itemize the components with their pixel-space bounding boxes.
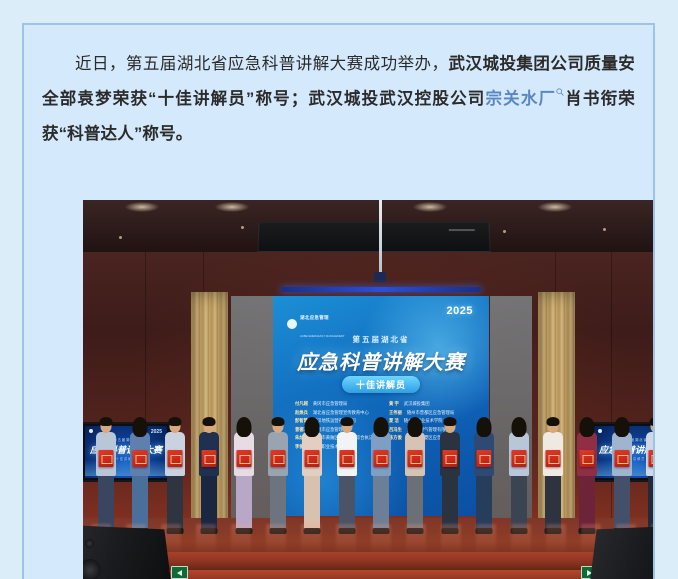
- hanging-mic-head: [374, 272, 386, 282]
- red-certificate: [133, 450, 148, 467]
- stage-light-strip: [281, 287, 481, 292]
- red-certificate: [649, 450, 656, 467]
- hanging-mic-pole: [379, 200, 382, 276]
- led-badge: 十佳讲解员: [342, 376, 420, 393]
- red-certificate: [511, 450, 526, 467]
- red-certificate: [339, 450, 354, 467]
- article-card: 近日，第五届湖北省应急科普讲解大赛成功举办，武汉城投集团公司质量安全部袁梦荣获“…: [22, 23, 655, 579]
- red-certificate: [202, 450, 217, 467]
- red-certificate: [614, 450, 629, 467]
- led-logo-title: 湖北应急管理: [300, 315, 329, 320]
- emblem-icon: [287, 319, 297, 329]
- speaker-left: [83, 525, 173, 579]
- speaker-right: [588, 525, 655, 579]
- red-certificate: [99, 450, 114, 467]
- red-certificate: [545, 450, 560, 467]
- red-certificate: [167, 450, 182, 467]
- article-paragraph: 近日，第五届湖北省应急科普讲解大赛成功举办，武汉城投集团公司质量安全部袁梦荣获“…: [42, 47, 635, 152]
- red-certificate: [580, 450, 595, 467]
- link-zongguan-waterworks[interactable]: 宗关水厂: [485, 90, 556, 108]
- red-certificate: [305, 450, 320, 467]
- exit-sign-left-icon: [171, 566, 188, 579]
- red-certificate: [442, 450, 457, 467]
- event-photo: 湖北应急管理 HUBEI EMERGENCY MANAGEMENT 2025 第…: [83, 200, 655, 579]
- led-kicker: 第五届湖北省: [273, 334, 489, 345]
- red-certificate: [408, 450, 423, 467]
- page-root: 近日，第五届湖北省应急科普讲解大赛成功举办，武汉城投集团公司质量安全部袁梦荣获“…: [0, 0, 678, 579]
- acoustic-panel: [257, 222, 490, 252]
- led-year: 2025: [447, 305, 473, 317]
- search-icon[interactable]: [556, 88, 564, 96]
- article-body: 近日，第五届湖北省应急科普讲解大赛成功举办，武汉城投集团公司质量安全部袁梦荣获“…: [24, 25, 653, 152]
- photo-scene: 湖北应急管理 HUBEI EMERGENCY MANAGEMENT 2025 第…: [83, 200, 655, 579]
- red-certificate: [374, 450, 389, 467]
- red-certificate: [236, 450, 251, 467]
- paragraph-segment-lead: 近日，第五届湖北省应急科普讲解大赛成功举办，: [75, 55, 449, 73]
- red-certificate: [270, 450, 285, 467]
- red-certificate: [477, 450, 492, 467]
- led-title: 应急科普讲解大赛: [273, 346, 489, 375]
- stage-reflections: [91, 524, 655, 554]
